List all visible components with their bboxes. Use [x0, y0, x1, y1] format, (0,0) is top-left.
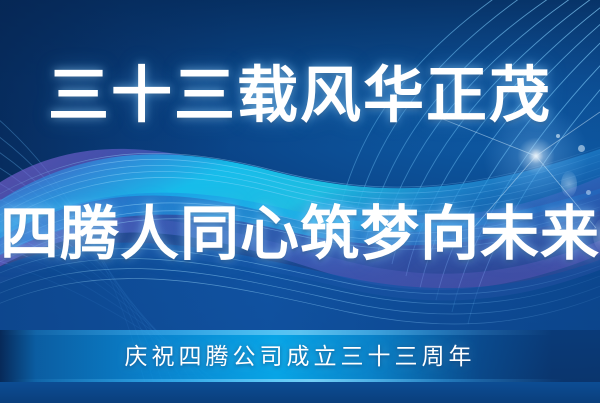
footer-strip [0, 382, 600, 403]
headline-line-2: 四腾人同心筑梦向未来 [0, 196, 600, 272]
headline-line-1: 三十三载风华正茂 [0, 56, 600, 134]
subtitle-text: 庆祝四腾公司成立三十三周年 [0, 338, 600, 374]
band-top-highlight [0, 330, 600, 335]
anniversary-banner: 三十三载风华正茂 四腾人同心筑梦向未来 庆祝四腾公司成立三十三周年 [0, 0, 600, 403]
